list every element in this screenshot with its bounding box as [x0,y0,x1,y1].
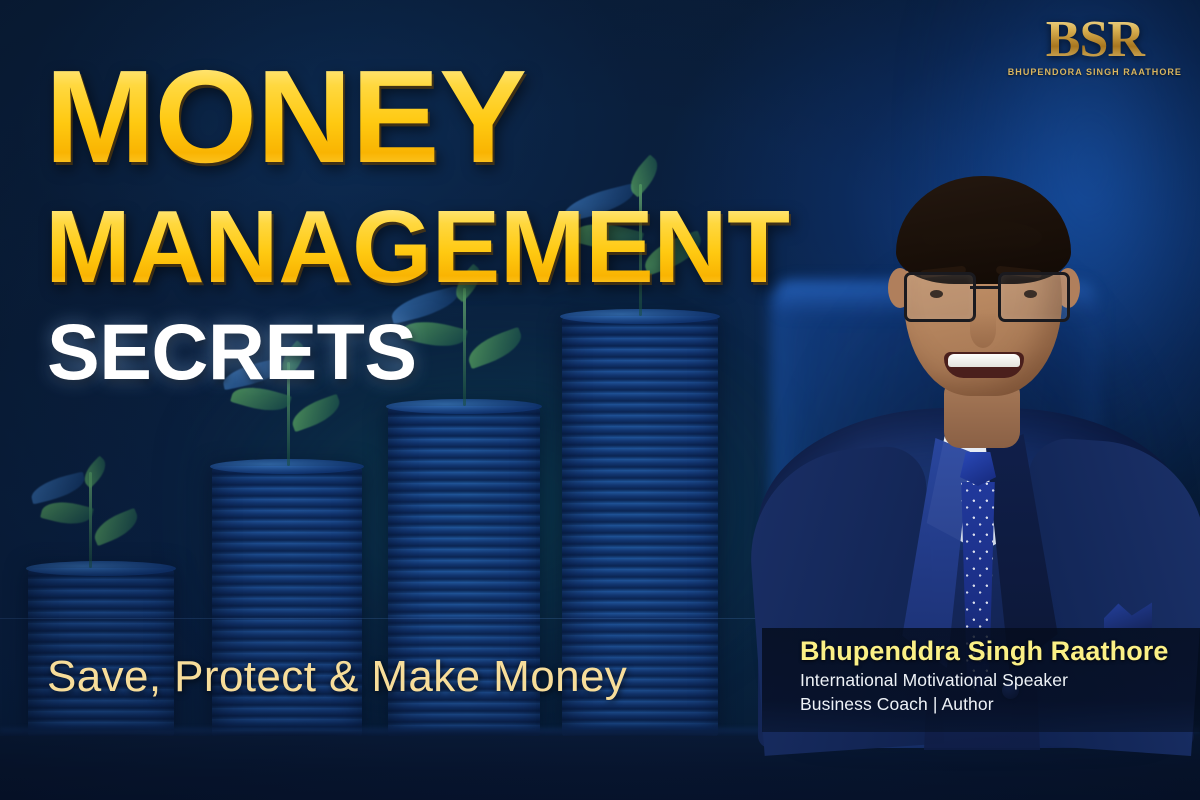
headline-line-management: MANAGEMENT [45,197,790,298]
bsr-logo-monogram: BSR [1008,14,1182,66]
speaker-name: Bhupenddra Singh Raathore [800,636,1200,668]
nose [970,312,996,348]
eyeglass-lens-left [904,272,976,322]
hair [896,176,1071,284]
speaker-role-line-2: Business Coach | Author [800,692,1200,716]
speaker-nameplate: Bhupenddra Singh Raathore International … [762,628,1200,732]
headline-line-secrets: SECRETS [47,312,790,391]
headline-group: MONEY MANAGEMENT SECRETS [45,52,790,391]
bsr-logo-subtitle: BHUPENDORA SINGH RAATHORE [1008,67,1182,77]
headline-line-money: MONEY [45,52,790,181]
tagline: Save, Protect & Make Money [47,652,627,702]
bsr-logo: BSR BHUPENDORA SINGH RAATHORE [1008,14,1182,77]
poster-canvas: MONEY MANAGEMENT SECRETS Save, Protect &… [0,0,1200,800]
teeth [948,354,1020,367]
eyeglass-bridge [970,286,998,289]
smiling-mouth [944,352,1024,378]
eyeglass-lens-right [998,272,1070,322]
speaker-role-line-1: International Motivational Speaker [800,668,1200,692]
